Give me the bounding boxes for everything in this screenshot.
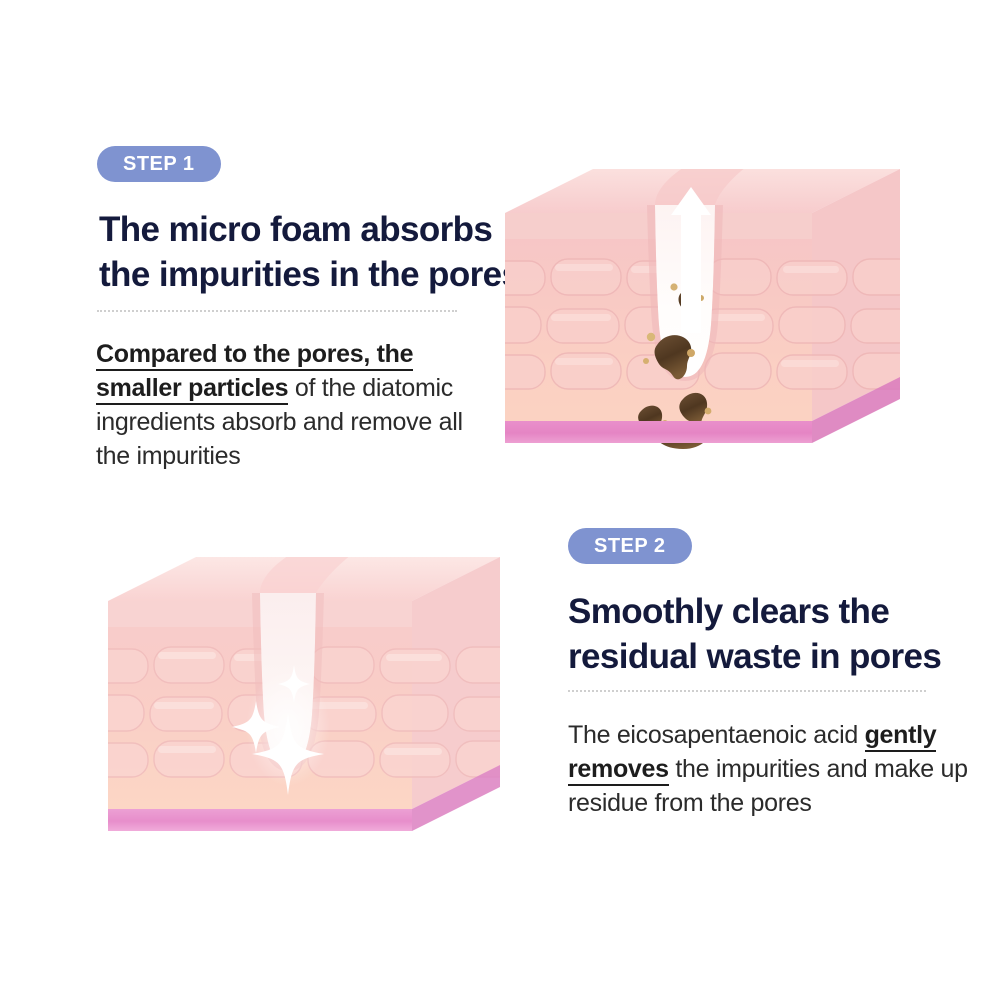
step-1-illustration xyxy=(505,165,900,455)
step-1-headline: The micro foam absorbs the impurities in… xyxy=(99,208,529,298)
step-2-headline: Smoothly clears the residual waste in po… xyxy=(568,590,988,680)
step-2-badge: STEP 2 xyxy=(568,528,692,564)
step-2-divider xyxy=(568,690,926,692)
step-1-body: Compared to the pores, the smaller parti… xyxy=(96,337,496,473)
skin-cross-section-clean-pore-svg xyxy=(108,553,500,843)
step-1-badge: STEP 1 xyxy=(97,146,221,182)
infographic-canvas: STEP 1 The micro foam absorbs the impuri… xyxy=(0,0,1000,1000)
step-2-body-prefix: The eicosapentaenoic acid xyxy=(568,721,865,749)
step-2-body: The eicosapentaenoic acid gently removes… xyxy=(568,718,968,820)
step-2-illustration xyxy=(108,553,500,843)
skin-cross-section-clogged-pore-svg xyxy=(505,165,900,455)
step-1-divider xyxy=(97,310,457,312)
